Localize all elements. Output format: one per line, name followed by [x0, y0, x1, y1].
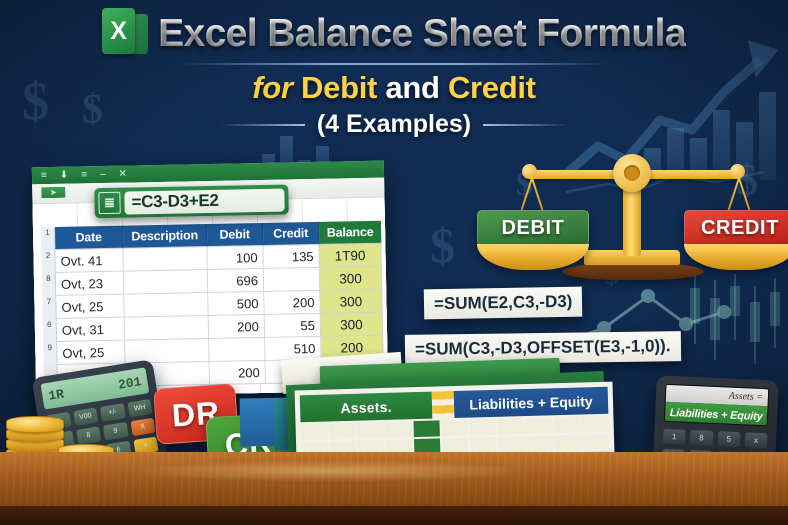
desk-surface [0, 452, 788, 525]
scale-knob-left [522, 164, 537, 179]
close-icon[interactable]: ✕ [119, 169, 128, 179]
calculator-right-display: Assets = Liabilities + Equity [664, 384, 770, 427]
cell-description[interactable] [125, 339, 209, 364]
column-header-description[interactable]: Description [123, 224, 207, 249]
cell-date[interactable]: Ovt. 41 [55, 249, 123, 273]
scale-string [738, 178, 752, 215]
formula-function-icon[interactable]: ≣ [98, 192, 120, 214]
debit-dish [477, 244, 589, 270]
balance-sheet-cell [301, 424, 328, 441]
formula-card-sum: =SUM(E2,C3,-D3) [424, 287, 583, 320]
row-number: 8 [42, 273, 56, 296]
cell-balance[interactable]: 1T90 [319, 244, 381, 268]
examples-row: (4 Examples) [0, 110, 788, 139]
page-subtitle: for Debit and Credit [0, 70, 788, 106]
column-header-debit[interactable]: Debit [207, 223, 263, 247]
balance-sheet-cell [497, 418, 524, 435]
title-row: X Excel Balance Sheet Formula [0, 8, 788, 60]
excel-logo-icon: X [102, 8, 148, 60]
save-icon[interactable]: ⬇ [60, 170, 69, 180]
title-divider [179, 63, 609, 65]
cell-date[interactable]: Ovt, 25 [56, 295, 124, 319]
cell-debit[interactable] [209, 338, 265, 362]
liabilities-equity-header[interactable]: Liabilities + Equity [454, 387, 609, 418]
balance-sheet-cell [470, 436, 497, 453]
column-header-balance[interactable]: Balance [319, 221, 381, 245]
minimize-icon[interactable]: – [100, 169, 106, 179]
cell-description[interactable] [124, 270, 208, 295]
cell-credit[interactable]: 135 [263, 245, 319, 269]
cell-description[interactable] [124, 293, 208, 318]
scale-string [726, 178, 740, 215]
header-divider [432, 391, 455, 419]
formula-input[interactable]: =C3-D3+E2 [124, 188, 284, 214]
column-header-credit[interactable]: Credit [263, 222, 319, 246]
balance-sheet-cell [554, 416, 581, 433]
balance-sheet-cell [498, 436, 525, 453]
calc-key[interactable]: WH [127, 399, 153, 417]
calc-left-display-right: 201 [117, 374, 142, 392]
calc-right-display-liabilities: Liabilities + Equity [665, 402, 768, 426]
cell-date[interactable]: Ovt, 31 [57, 318, 125, 342]
row-number: 9 [43, 342, 57, 365]
column-header-date[interactable]: Date [55, 226, 123, 250]
cell-debit[interactable]: 696 [208, 269, 264, 293]
calc-key[interactable]: 1 [663, 429, 686, 445]
balance-sheet-cell [357, 422, 384, 439]
balance-sheet-cell [329, 423, 356, 440]
row-number: 1 [41, 227, 55, 250]
debit-plate: DEBIT [477, 210, 589, 246]
calc-key-multiply[interactable]: x [745, 432, 768, 448]
balance-sheet-cell [526, 417, 553, 434]
ribbon-run-button[interactable]: ➤ [40, 186, 66, 199]
scale-pan-debit: DEBIT [477, 210, 589, 270]
poster-header: X Excel Balance Sheet Formula for Debit … [0, 8, 788, 139]
balance-sheet-cell [441, 420, 468, 437]
debit-label: DEBIT [502, 217, 565, 240]
menu-icon[interactable]: ≡ [41, 171, 47, 181]
cell-date[interactable]: Ovt, 25 [57, 341, 125, 365]
subtitle-debit: Debit [301, 70, 377, 105]
examples-rule-right [483, 124, 569, 126]
row-number: 6 [43, 319, 57, 342]
poster-canvas: $ $ $ $ $ $ [0, 0, 788, 525]
assets-header[interactable]: Assets. [300, 392, 433, 423]
examples-rule-left [219, 124, 305, 126]
formula-bar[interactable]: ≣ =C3-D3+E2 [94, 184, 289, 218]
calc-key[interactable]: 8 [690, 430, 713, 446]
scale-pan-credit: CREDIT [684, 210, 788, 270]
balance-sheet-cell [385, 421, 412, 438]
subtitle-for: for [252, 70, 292, 105]
cell-debit[interactable]: 200 [209, 315, 265, 339]
balance-sheet-cell [469, 419, 496, 436]
balance-scale-graphic: DEBIT CREDIT [498, 146, 770, 298]
cell-balance[interactable]: 300 [320, 290, 382, 314]
cell-description[interactable] [125, 316, 209, 341]
balance-sheet-cell [582, 416, 609, 433]
balance-sheet-cell [413, 420, 440, 437]
cell-debit[interactable]: 200 [210, 361, 266, 385]
credit-label: CREDIT [701, 217, 779, 240]
cell-balance[interactable]: 300 [320, 267, 382, 291]
desk-edge [0, 506, 788, 525]
subtitle-credit: Credit [448, 70, 536, 105]
credit-dish [684, 244, 788, 270]
cell-description[interactable] [123, 247, 207, 272]
subtitle-and: and [385, 70, 439, 105]
calc-key-multiply[interactable]: X [130, 418, 156, 436]
examples-count: (4 Examples) [317, 110, 471, 139]
calc-key[interactable]: 5 [717, 431, 740, 447]
scale-string [531, 178, 545, 215]
cell-credit[interactable] [264, 268, 320, 292]
cell-debit[interactable]: 500 [208, 292, 264, 316]
cell-date[interactable]: Ovt, 23 [56, 272, 124, 296]
cell-credit[interactable]: 55 [265, 314, 321, 338]
cell-debit[interactable]: 100 [207, 246, 263, 270]
scale-pivot [613, 154, 651, 192]
excel-logo-letter: X [110, 19, 127, 44]
desk-highlight [120, 460, 540, 482]
row-number: 7 [42, 296, 56, 319]
options-icon[interactable]: ≡ [81, 170, 87, 180]
page-title: Excel Balance Sheet Formula [158, 12, 686, 56]
cell-credit[interactable]: 200 [264, 291, 320, 315]
cell-balance[interactable]: 300 [321, 313, 383, 337]
credit-plate: CREDIT [684, 210, 788, 246]
row-number: 2 [41, 250, 55, 273]
scale-string [519, 178, 533, 215]
